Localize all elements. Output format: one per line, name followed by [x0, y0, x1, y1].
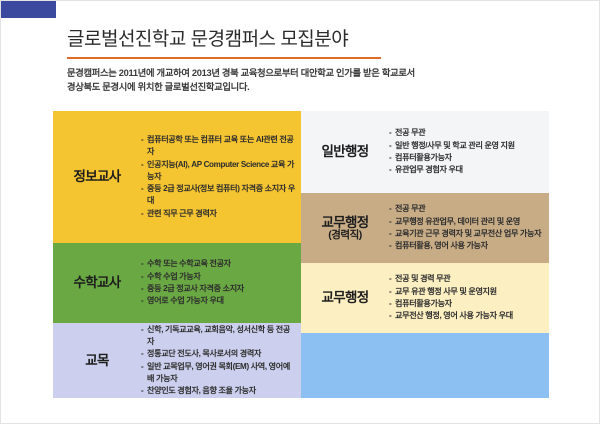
requirement-item: - 수학 또는 수학교육 전공자	[141, 258, 297, 270]
requirement-list-chaplain: - 신학, 기독교교육, 교회음악, 성서신학 등 전공자 - 정통교단 전도사…	[141, 323, 301, 398]
requirement-item: - 교육기관 근무 경력자 및 교무전산 업무 가능자	[389, 228, 545, 240]
requirement-item: - 전공 무관	[389, 127, 545, 139]
requirement-list-math-teacher: - 수학 또는 수학교육 전공자 - 수학 수업 가능자 - 중등 2급 정교사…	[141, 256, 301, 309]
requirement-text: 교무전산 행정, 영어 사용 가능자 우대	[395, 310, 545, 322]
requirement-item: - 수학 수업 가능자	[141, 271, 297, 283]
requirement-list-information-teacher: - 컴퓨터공학 또는 컴퓨터 교육 또는 AI관련 전공자 - 인공지능(AI)…	[141, 132, 301, 222]
requirement-item: - 중등 2급 정교사(정보 컴퓨터) 자격증 소지자 우대	[141, 183, 297, 208]
requirement-item: - 교무전산 행정, 영어 사용 가능자 우대	[389, 310, 545, 322]
requirement-text: 인공지능(AI), AP Computer Science 교육 가능자	[147, 159, 297, 184]
requirement-text: 전공 무관	[395, 127, 545, 139]
requirement-item: - 일반 행정/사무 및 학교 관리 운영 지원	[389, 140, 545, 152]
requirement-item: - 관련 직무 근무 경력자	[141, 208, 297, 220]
requirement-text: 중등 2급 정교사(정보 컴퓨터) 자격증 소지자 우대	[147, 183, 297, 208]
position-label-text: 정보교사	[74, 169, 121, 184]
position-row-information-teacher: 정보교사 - 컴퓨터공학 또는 컴퓨터 교육 또는 AI관련 전공자 - 인공지…	[53, 111, 301, 243]
position-label-academic-administration-experienced: 교무행정 (경력직)	[301, 215, 389, 242]
position-label-text: 교목	[85, 353, 108, 368]
positions-column-right: 일반행정 - 전공 무관 - 일반 행정/사무 및 학교 관리 운영 지원 - …	[301, 111, 549, 398]
requirement-text: 정통교단 전도사, 목사로서의 경력자	[147, 348, 297, 360]
requirement-list-academic-administration: - 전공 및 경력 무관 - 교무 유관 행정 사무 및 운영지원 - 컴퓨터활…	[389, 271, 549, 324]
requirement-item: - 컴퓨터활용, 영어 사용 가능자	[389, 240, 545, 252]
position-label-information-teacher: 정보교사	[53, 169, 141, 184]
position-label-chaplain: 교목	[53, 353, 141, 368]
requirement-text: 유관업무 경험자 우대	[395, 164, 545, 176]
requirement-text: 신학, 기독교교육, 교회음악, 성서신학 등 전공자	[147, 324, 297, 349]
requirement-text: 교무 유관 행정 사무 및 운영지원	[395, 286, 545, 298]
position-row-general-administration: 일반행정 - 전공 무관 - 일반 행정/사무 및 학교 관리 운영 지원 - …	[301, 111, 549, 193]
positions-table: 정보교사 - 컴퓨터공학 또는 컴퓨터 교육 또는 AI관련 전공자 - 인공지…	[53, 111, 549, 398]
requirement-item: - 인공지능(AI), AP Computer Science 교육 가능자	[141, 159, 297, 184]
subtitle-line-2: 경상북도 문경시에 위치한 글로벌선진학교입니다.	[67, 80, 547, 94]
requirement-text: 찬양인도 경험자, 음향 조율 가능자	[147, 385, 297, 397]
position-label-general-administration: 일반행정	[301, 144, 389, 159]
requirement-text: 영어로 수업 가능자 우대	[147, 295, 297, 307]
position-label-text: 수학교사	[74, 275, 121, 290]
requirement-text: 일반 교목업무, 영어권 목회(EM) 사역, 영어예배 가능자	[147, 361, 297, 386]
requirement-item: - 찬양인도 경험자, 음향 조율 가능자	[141, 385, 297, 397]
position-row-empty-placeholder	[301, 333, 549, 398]
page-subtitle: 문경캠퍼스는 2011년에 개교하여 2013년 경북 교육청으로부터 대안학교…	[67, 66, 547, 95]
poster-page: 글로벌선진학교 문경캠퍼스 모집분야 문경캠퍼스는 2011년에 개교하여 20…	[0, 0, 600, 424]
position-row-math-teacher: 수학교사 - 수학 또는 수학교육 전공자 - 수학 수업 가능자 - 중등 2…	[53, 243, 301, 323]
requirement-text: 수학 수업 가능자	[147, 271, 297, 283]
requirement-item: - 컴퓨터활용가능자	[389, 298, 545, 310]
requirement-item: - 신학, 기독교교육, 교회음악, 성서신학 등 전공자	[141, 324, 297, 349]
requirement-text: 관련 직무 근무 경력자	[147, 208, 297, 220]
requirement-item: - 교무 유관 행정 사무 및 운영지원	[389, 286, 545, 298]
requirement-text: 컴퓨터공학 또는 컴퓨터 교육 또는 AI관련 전공자	[147, 134, 297, 159]
requirement-item: - 교무행정 유관업무, 데이터 관리 및 운영	[389, 216, 545, 228]
requirement-list-academic-administration-experienced: - 전공 무관 - 교무행정 유관업무, 데이터 관리 및 운영 - 교육기관 …	[389, 201, 549, 254]
position-sub-label-text: (경력직)	[303, 230, 387, 242]
requirement-list-general-administration: - 전공 무관 - 일반 행정/사무 및 학교 관리 운영 지원 - 컴퓨터활용…	[389, 125, 549, 178]
requirement-item: - 전공 무관	[389, 203, 545, 215]
requirement-text: 컴퓨터활용가능자	[395, 152, 545, 164]
position-label-math-teacher: 수학교사	[53, 275, 141, 290]
requirement-item: - 중등 2급 정교사 자격증 소지자	[141, 283, 297, 295]
requirement-item: - 전공 및 경력 무관	[389, 273, 545, 285]
position-row-chaplain: 교목 - 신학, 기독교교육, 교회음악, 성서신학 등 전공자 - 정통교단 …	[53, 323, 301, 398]
requirement-text: 일반 행정/사무 및 학교 관리 운영 지원	[395, 140, 545, 152]
position-row-academic-administration: 교무행정 - 전공 및 경력 무관 - 교무 유관 행정 사무 및 운영지원 -…	[301, 263, 549, 333]
requirement-text: 컴퓨터활용가능자	[395, 298, 545, 310]
position-label-text: 교무행정	[322, 215, 369, 230]
requirement-item: - 컴퓨터활용가능자	[389, 152, 545, 164]
position-label-text: 일반행정	[322, 144, 369, 159]
requirement-text: 교육기관 근무 경력자 및 교무전산 업무 가능자	[395, 228, 545, 240]
requirement-text: 전공 및 경력 무관	[395, 273, 545, 285]
requirement-text: 수학 또는 수학교육 전공자	[147, 258, 297, 270]
poster-header: 글로벌선진학교 문경캠퍼스 모집분야 문경캠퍼스는 2011년에 개교하여 20…	[67, 29, 547, 95]
position-row-academic-administration-experienced: 교무행정 (경력직) - 전공 무관 - 교무행정 유관업무, 데이터 관리 및…	[301, 193, 549, 263]
corner-accent-mark	[1, 1, 56, 18]
requirement-text: 컴퓨터활용, 영어 사용 가능자	[395, 240, 545, 252]
requirement-item: - 정통교단 전도사, 목사로서의 경력자	[141, 348, 297, 360]
positions-column-left: 정보교사 - 컴퓨터공학 또는 컴퓨터 교육 또는 AI관련 전공자 - 인공지…	[53, 111, 301, 398]
requirement-text: 전공 무관	[395, 203, 545, 215]
subtitle-line-1: 문경캠퍼스는 2011년에 개교하여 2013년 경북 교육청으로부터 대안학교…	[67, 66, 547, 80]
position-label-text: 교무행정	[322, 290, 369, 305]
requirement-text: 중등 2급 정교사 자격증 소지자	[147, 283, 297, 295]
requirement-item: - 일반 교목업무, 영어권 목회(EM) 사역, 영어예배 가능자	[141, 361, 297, 386]
requirement-text: 교무행정 유관업무, 데이터 관리 및 운영	[395, 216, 545, 228]
page-title: 글로벌선진학교 문경캠퍼스 모집분야	[67, 29, 547, 51]
requirement-item: - 컴퓨터공학 또는 컴퓨터 교육 또는 AI관련 전공자	[141, 134, 297, 159]
title-underline-rule	[67, 57, 381, 59]
requirement-item: - 유관업무 경험자 우대	[389, 164, 545, 176]
position-label-academic-administration: 교무행정	[301, 290, 389, 305]
requirement-item: - 영어로 수업 가능자 우대	[141, 295, 297, 307]
